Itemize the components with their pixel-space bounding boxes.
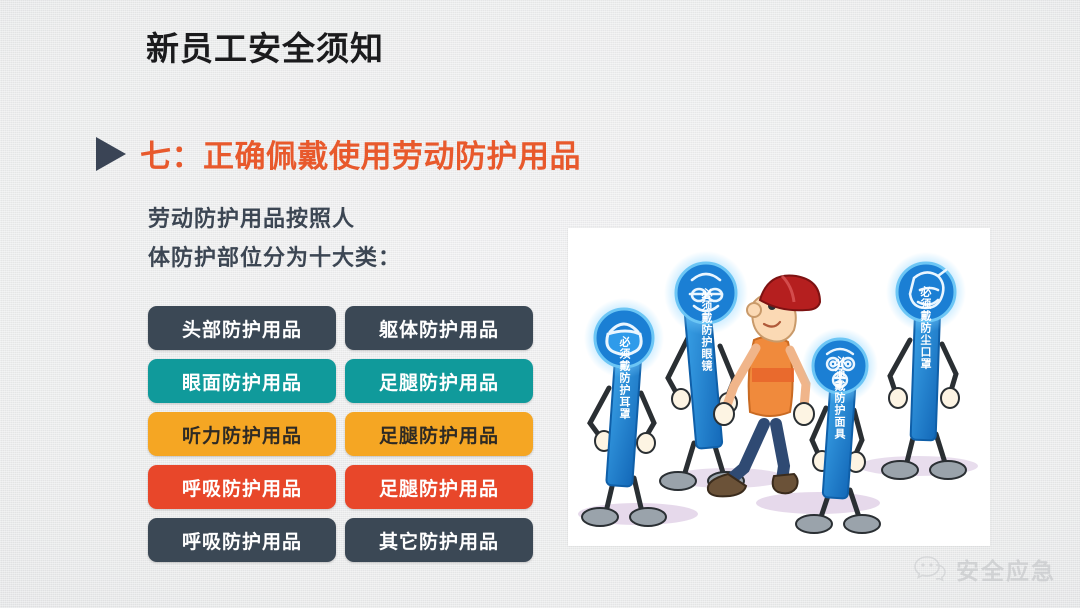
face-sign-label: 必须戴防护面具 — [833, 355, 847, 440]
slide-canvas: 新员工安全须知 七：正确佩戴使用劳动防护用品 劳动防护用品按照人 体防护部位分为… — [0, 0, 1080, 608]
illustration-panel: 必须戴防护耳罩 — [568, 228, 990, 546]
category-chip-eyeface[interactable]: 眼面防护用品 — [148, 359, 336, 403]
category-chip-other[interactable]: 其它防护用品 — [345, 518, 533, 562]
category-chip-torso[interactable]: 躯体防护用品 — [345, 306, 533, 350]
section-heading-text: 七：正确佩戴使用劳动防护用品 — [140, 131, 581, 176]
category-grid: 头部防护用品 躯体防护用品 眼面防护用品 足腿防护用品 听力防护用品 足腿防护用… — [148, 306, 548, 562]
watermark-text: 安全应急 — [956, 552, 1056, 586]
ppe-illustration: 必须戴防护耳罩 — [568, 228, 990, 546]
category-chip-respiratory-1[interactable]: 呼吸防护用品 — [148, 465, 336, 509]
category-chip-footleg-3[interactable]: 足腿防护用品 — [345, 465, 533, 509]
watermark: 安全应急 — [913, 552, 1056, 586]
category-chip-head[interactable]: 头部防护用品 — [148, 306, 336, 350]
dust-sign-label: 必须戴防尘口罩 — [919, 285, 933, 370]
category-chip-footleg-1[interactable]: 足腿防护用品 — [345, 359, 533, 403]
chat-bubble-icon — [913, 554, 947, 584]
body-paragraph: 劳动防护用品按照人 体防护部位分为十大类： — [148, 200, 401, 277]
triangle-right-icon — [96, 137, 126, 171]
category-chip-respiratory-2[interactable]: 呼吸防护用品 — [148, 518, 336, 562]
page-title: 新员工安全须知 — [146, 22, 384, 70]
eye-sign-label: 必须戴防护眼镜 — [700, 287, 714, 372]
category-chip-footleg-2[interactable]: 足腿防护用品 — [345, 412, 533, 456]
body-line-2: 体防护部位分为十大类： — [148, 239, 401, 278]
body-line-1: 劳动防护用品按照人 — [148, 200, 401, 239]
ear-sign-label: 必须戴防护耳罩 — [618, 335, 632, 420]
category-chip-hearing[interactable]: 听力防护用品 — [148, 412, 336, 456]
section-heading: 七：正确佩戴使用劳动防护用品 — [96, 131, 581, 176]
